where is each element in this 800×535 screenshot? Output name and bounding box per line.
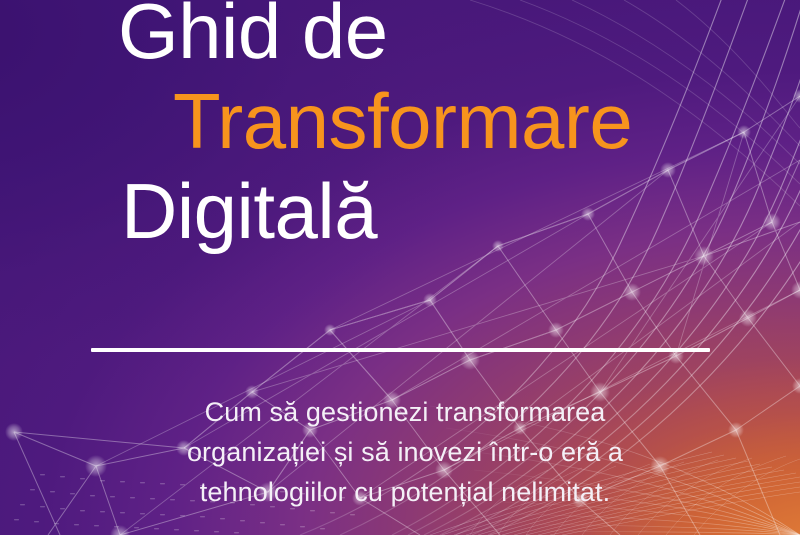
title-line-3: Digitală	[118, 166, 800, 256]
subtitle-line-1: Cum să gestionezi transformarea	[60, 392, 750, 432]
title-line-2-accent: Transformare	[118, 76, 800, 166]
cover-title: Ghid de Transformare Digitală	[0, 0, 800, 256]
cover-subtitle: Cum să gestionezi transformarea organiza…	[60, 392, 750, 512]
subtitle-line-3: tehnologiilor cu potențial nelimitat.	[60, 472, 750, 512]
title-line-1: Ghid de	[118, 0, 800, 76]
cover-content: Ghid de Transformare Digitală Cum să ges…	[0, 0, 800, 535]
subtitle-line-2: organizației și să inovezi într-o eră a	[60, 432, 750, 472]
book-cover: Ghid de Transformare Digitală Cum să ges…	[0, 0, 800, 535]
title-divider	[91, 348, 710, 352]
